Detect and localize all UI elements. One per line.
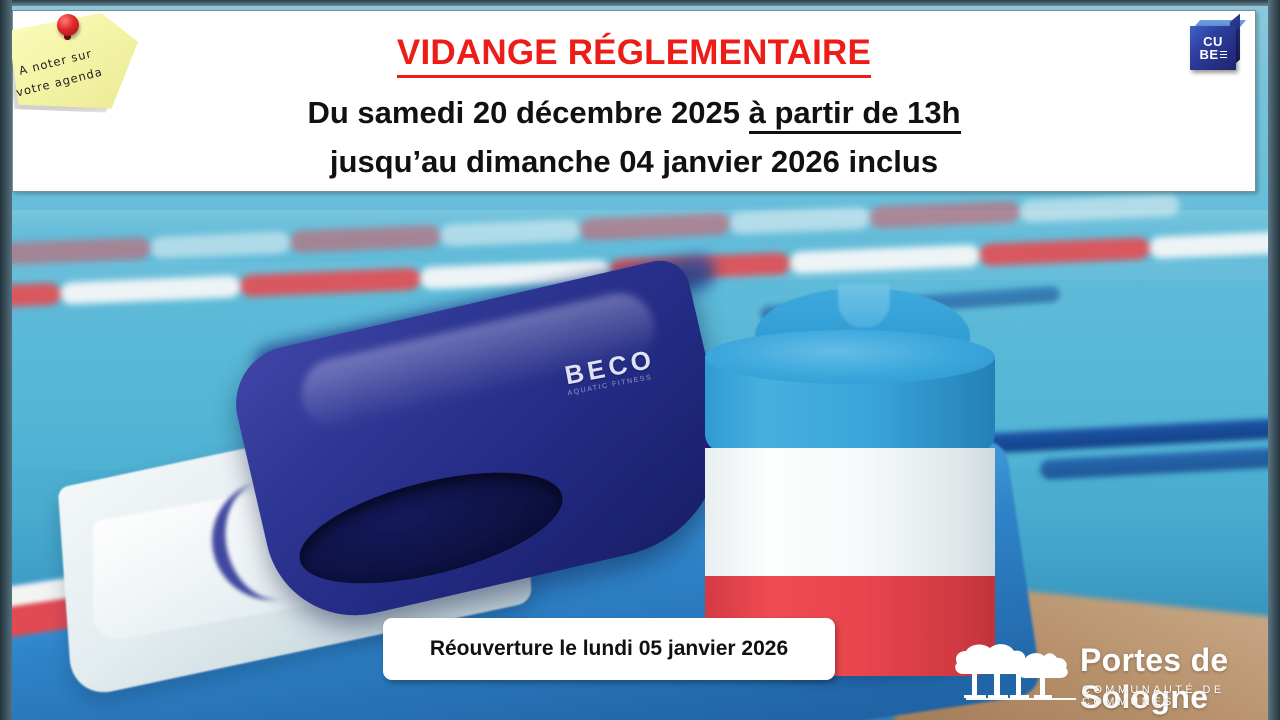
- tree-icon: [952, 640, 1072, 706]
- logo-rule: [966, 698, 1076, 700]
- page-title-text: VIDANGE RÉGLEMENTAIRE: [397, 33, 871, 78]
- slide-edge-right: [1268, 0, 1280, 720]
- slide-edge-left: [0, 0, 12, 720]
- cube-logo-text: CU BE: [1190, 26, 1236, 70]
- cube-logo-line2: BE: [1199, 48, 1218, 61]
- page-title: VIDANGE RÉGLEMENTAIRE: [13, 33, 1255, 73]
- swim-fin: BECO AQUATIC FITNESS: [60, 290, 720, 650]
- slide-canvas: BECO AQUATIC FITNESS VIDANGE RÉGLEMENTAI…: [0, 0, 1280, 720]
- slide-edge-top: [0, 0, 1280, 6]
- organisation-subtitle: COMMUNAUTÉ DE COMMUNES: [1082, 684, 1270, 708]
- pull-buoy-white-band: [705, 448, 995, 580]
- date-start-prefix: Du samedi 20 décembre 2025: [307, 95, 748, 130]
- sticky-note: A noter sur votre agenda: [6, 10, 146, 118]
- date-start-time: à partir de 13h: [749, 95, 961, 134]
- cube-logo: CU BE: [1186, 20, 1242, 76]
- pushpin-icon: [57, 14, 79, 36]
- announcement-card: VIDANGE RÉGLEMENTAIRE Du samedi 20 décem…: [12, 10, 1256, 192]
- reopening-text: Réouverture le lundi 05 janvier 2026: [430, 637, 788, 661]
- reopening-banner: Réouverture le lundi 05 janvier 2026: [383, 618, 835, 680]
- cube-logo-line2-wrap: BE: [1199, 48, 1226, 61]
- cube-bars-icon: [1220, 51, 1227, 59]
- pull-buoy-top: [705, 330, 995, 384]
- date-end-line: jusqu’au dimanche 04 janvier 2026 inclus: [13, 144, 1255, 180]
- date-start-line: Du samedi 20 décembre 2025 à partir de 1…: [13, 95, 1255, 131]
- portes-de-sologne-logo: Portes de Sologne COMMUNAUTÉ DE COMMUNES: [952, 638, 1270, 712]
